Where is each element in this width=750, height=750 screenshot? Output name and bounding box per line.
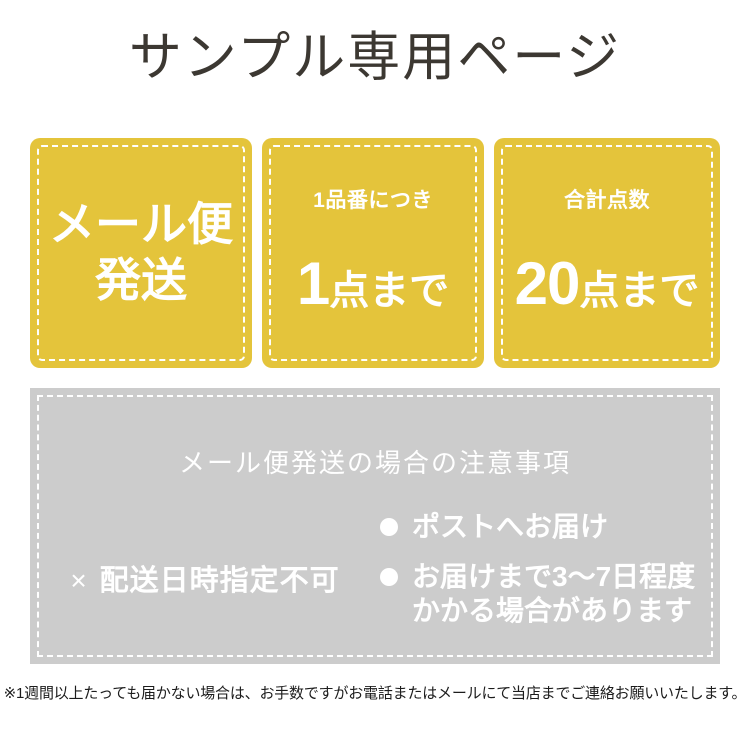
card-total-limit-label: 合計点数 — [494, 189, 720, 213]
notice-bullet-text: ポストへお届け — [412, 510, 608, 544]
card-content: 1品番につき 1点まで — [262, 189, 484, 318]
card-per-item-limit-label: 1品番につき — [262, 189, 484, 213]
notice-restriction-label: 配送日時指定不可 — [100, 565, 340, 597]
card-per-item-limit-value: 1点まで — [262, 250, 484, 317]
notice-restriction: ×配送日時指定不可 — [30, 508, 380, 648]
card-content: 合計点数 20点まで — [494, 189, 720, 318]
card-shipping-method-line2: 発送 — [30, 255, 252, 307]
list-item: ポストへお届け — [380, 510, 720, 544]
card-per-item-limit-unit: 点まで — [329, 269, 449, 313]
card-per-item-limit: 1品番につき 1点まで — [262, 138, 484, 368]
notice-panel: メール便発送の場合の注意事項 ×配送日時指定不可 ポストへお届け お届けまで3〜… — [30, 388, 720, 664]
card-per-item-limit-number: 1 — [297, 250, 329, 317]
info-card-row: メール便 発送 1品番につき 1点まで 合計点数 20点まで — [30, 138, 720, 368]
cross-icon: × — [70, 565, 87, 597]
notice-body: ×配送日時指定不可 ポストへお届け お届けまで3〜7日程度 かかる場合があります — [30, 508, 720, 648]
notice-bullet-list: ポストへお届け お届けまで3〜7日程度 かかる場合があります — [380, 508, 720, 644]
bullet-dot-icon — [380, 568, 398, 586]
page-title: サンプル専用ページ — [0, 28, 750, 89]
card-total-limit-number: 20 — [515, 250, 580, 317]
notice-restriction-text: ×配送日時指定不可 — [70, 557, 339, 599]
card-total-limit-value: 20点まで — [494, 250, 720, 317]
footer-note: ※1週間以上たっても届かない場合は、お手数ですがお電話またはメールにて当店までご… — [0, 682, 750, 703]
card-shipping-method: メール便 発送 — [30, 138, 252, 368]
notice-bullet-text: お届けまで3〜7日程度 かかる場合があります — [412, 560, 695, 628]
card-total-limit-unit: 点まで — [579, 269, 699, 313]
notice-heading: メール便発送の場合の注意事項 — [30, 443, 720, 480]
list-item: お届けまで3〜7日程度 かかる場合があります — [380, 560, 720, 628]
bullet-dot-icon — [380, 518, 398, 536]
card-content: メール便 発送 — [30, 199, 252, 306]
sample-page: サンプル専用ページ メール便 発送 1品番につき 1点まで 合計点数 — [0, 0, 750, 750]
card-total-limit: 合計点数 20点まで — [494, 138, 720, 368]
card-shipping-method-line1: メール便 — [30, 199, 252, 251]
